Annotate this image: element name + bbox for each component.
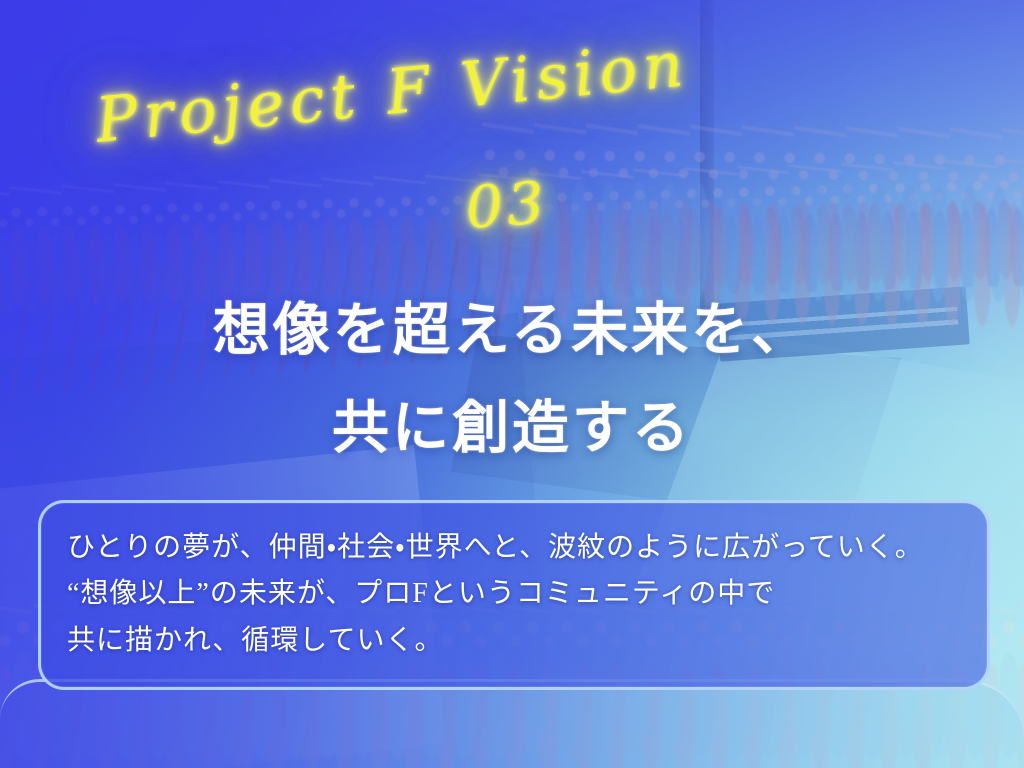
slide-canvas: Project F Vision 03 想像を超える未来を、 共に創造する ひと…	[0, 0, 1024, 768]
headline-line-1: 想像を超える未来を、	[0, 282, 1024, 380]
message-line-2: “想像以上”の未来が、プロFというコミュニティの中で	[67, 571, 961, 617]
headline-line-2: 共に創造する	[0, 380, 1024, 478]
message-line-1: ひとりの夢が、仲間・社会・世界へと、波紋のように広がっていく。	[67, 525, 961, 571]
message-line-3: 共に描かれ、循環していく。	[67, 618, 961, 664]
message-box: ひとりの夢が、仲間・社会・世界へと、波紋のように広がっていく。 “想像以上”の未…	[38, 500, 990, 690]
headline: 想像を超える未来を、 共に創造する	[0, 282, 1024, 478]
bottom-photo-strip	[0, 679, 1024, 768]
